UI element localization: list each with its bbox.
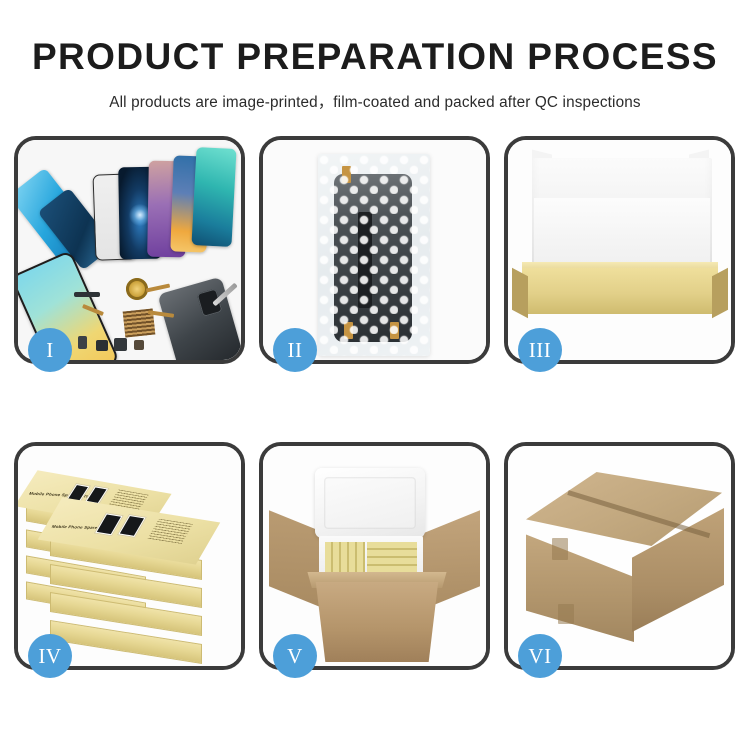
step-badge-5: V	[273, 634, 317, 678]
step-badge-2: II	[273, 328, 317, 372]
sim-tray-part	[78, 336, 87, 349]
process-step-6-image	[508, 446, 731, 666]
process-step-2-image	[263, 140, 486, 360]
carton-body	[309, 582, 445, 662]
styrofoam-lid	[315, 468, 425, 538]
process-step-5-image	[263, 446, 486, 666]
stacked-boxes-scene: Mobile Phone Spare Parts Mobile Phone Sp…	[18, 446, 241, 666]
process-step-1[interactable]: I	[14, 136, 245, 364]
open-box-scene	[508, 140, 731, 360]
phone-parts-scene	[18, 140, 241, 360]
screw-pack-part	[134, 340, 144, 350]
step-badge-3: III	[518, 328, 562, 372]
process-grid: I II	[14, 136, 736, 670]
vibrator-part	[114, 338, 127, 351]
carton-styrofoam-scene	[263, 446, 486, 666]
camera-lens-part	[126, 278, 148, 300]
process-step-2[interactable]: II	[259, 136, 490, 364]
step-badge-6: VI	[518, 634, 562, 678]
process-step-1-image	[18, 140, 241, 360]
process-step-3[interactable]: III	[504, 136, 735, 364]
yellow-box-front	[522, 268, 718, 314]
process-step-6[interactable]: VI	[504, 442, 735, 670]
process-step-5[interactable]: V	[259, 442, 490, 670]
page-subtitle: All products are image-printed，film-coat…	[0, 90, 750, 112]
step-badge-1: I	[28, 328, 72, 372]
white-foam-sheet	[534, 198, 710, 270]
step-badge-4: IV	[28, 634, 72, 678]
carton-tape-lower	[558, 604, 574, 624]
process-step-3-image	[508, 140, 731, 360]
speaker-part	[74, 292, 100, 297]
page-title: PRODUCT PREPARATION PROCESS	[0, 38, 750, 77]
process-step-4-image: Mobile Phone Spare Parts Mobile Phone Sp…	[18, 446, 241, 666]
bubble-texture	[318, 154, 430, 356]
bubble-wrap-bag	[318, 154, 430, 356]
bubble-wrap-scene	[263, 140, 486, 360]
page-header: PRODUCT PREPARATION PROCESS All products…	[0, 0, 750, 112]
sealed-carton-scene	[508, 446, 731, 666]
teal-screen-phone	[191, 147, 236, 247]
carton-tape-upper	[552, 538, 568, 560]
box-spec-lines-front	[147, 519, 193, 545]
carton-left-face	[526, 530, 634, 642]
button-part	[96, 340, 108, 351]
process-step-4[interactable]: Mobile Phone Spare Parts Mobile Phone Sp…	[14, 442, 245, 670]
